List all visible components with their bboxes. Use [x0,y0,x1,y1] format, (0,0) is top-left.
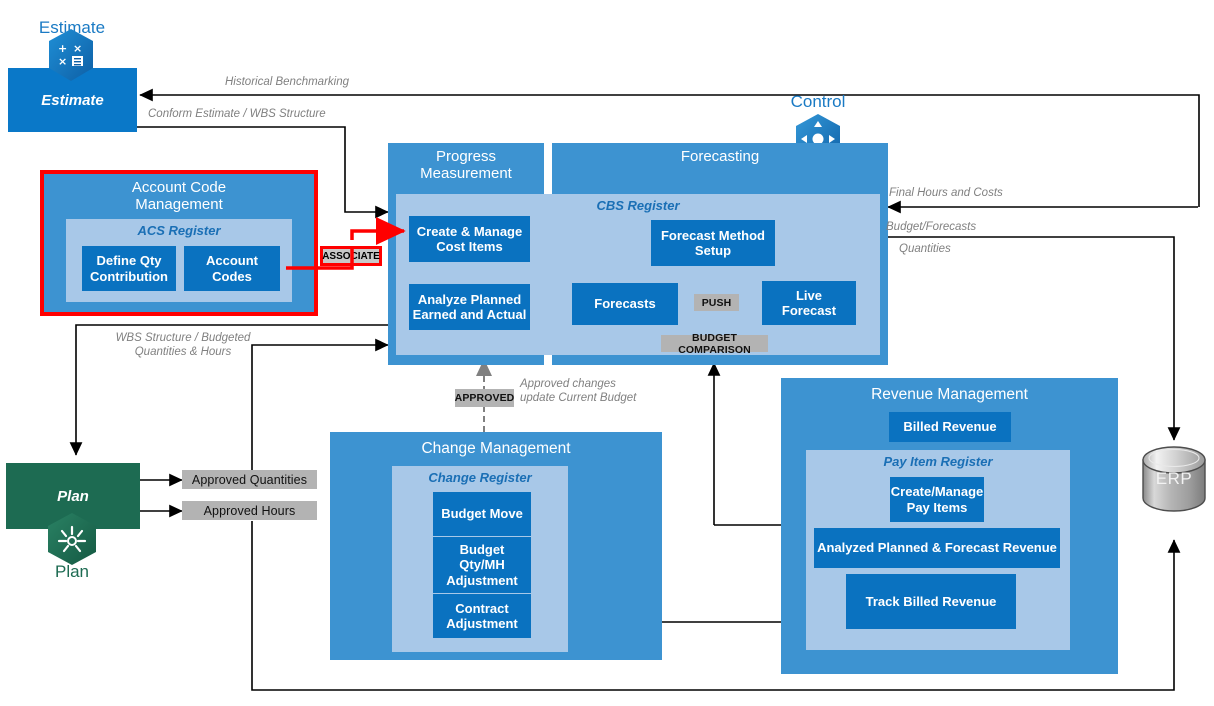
apfr-label: Analyzed Planned & Forecast Revenue [817,540,1057,555]
change-register-title: Change Register [392,470,568,485]
associate-tag[interactable]: ASSOCIATE [320,246,382,266]
bqma-line1: Budget [460,542,505,557]
svg-text:×: × [58,55,67,68]
budget-comparison-label: BUDGET COMPARISON [661,332,768,356]
account-codes-line1: Account [206,253,258,268]
label-quantities: Quantities [899,243,1099,257]
associate-label: ASSOCIATE [322,251,380,262]
wbs-line2: Quantities & Hours [135,346,232,358]
label-wbs-structure: WBS Structure / Budgeted Quantities & Ho… [88,332,278,360]
push-label: PUSH [702,297,732,309]
cmci-line1: Create & Manage [417,224,522,239]
acs-register-title: ACS Register [66,223,292,238]
plan-hex-label: Plan [42,562,102,582]
contract-adjustment-item[interactable]: Contract Adjustment [433,594,531,638]
approved-label: APPROVED [455,392,515,404]
account-codes-item[interactable]: Account Codes [184,246,280,291]
bqma-line2: Qty/MH [459,557,505,572]
approved-changes-line2: update Current Budget [520,392,636,404]
cmpi-line1: Create/Manage [891,484,983,499]
label-conform-estimate: Conform Estimate / WBS Structure [148,108,468,122]
contract-adj-line1: Contract [455,601,508,616]
apea-line2: Earned and Actual [413,307,527,322]
define-qty-line1: Define Qty [96,253,161,268]
approved-hours-label: Approved Hours [204,504,296,518]
define-qty-contribution-item[interactable]: Define Qty Contribution [82,246,176,291]
label-final-hours-costs: Final Hours and Costs [889,187,1089,201]
create-manage-pay-items[interactable]: Create/Manage Pay Items [890,477,984,522]
budget-comparison-tag[interactable]: BUDGET COMPARISON [661,335,768,352]
analyzed-planned-forecast-revenue[interactable]: Analyzed Planned & Forecast Revenue [814,528,1060,568]
cbs-register-title: CBS Register [396,198,880,213]
live-forecast-line1: Live [796,288,822,303]
erp-label: ERP [1143,469,1205,489]
approved-hours-tag[interactable]: Approved Hours [182,501,317,520]
svg-text:×: × [73,42,82,55]
billed-revenue-label: Billed Revenue [903,419,996,434]
apea-line1: Analyze Planned [418,292,521,307]
live-forecast-line2: Forecast [782,303,836,318]
diagram-canvas: Estimate Estimate +× × Control Account C… [0,0,1214,706]
acs-register-panel: ACS Register Define Qty Contribution Acc… [66,219,292,302]
budget-move-item[interactable]: Budget Move [433,492,531,536]
label-historical-benchmarking: Historical Benchmarking [225,76,505,90]
account-code-management-module[interactable]: Account Code Management ACS Register Def… [44,174,314,312]
pay-item-register-title: Pay Item Register [806,454,1070,469]
erp-node[interactable]: ERP [1143,447,1205,511]
push-tag[interactable]: PUSH [694,294,739,311]
plan-box-label: Plan [57,488,89,505]
revenue-management-module[interactable]: Revenue Management Billed Revenue Pay It… [781,378,1118,674]
svg-text:+: + [58,42,67,55]
budget-qty-mh-adjustment-item[interactable]: Budget Qty/MH Adjustment [433,537,531,593]
cmpi-line2: Pay Items [907,500,968,515]
change-management-title: Change Management [330,440,662,457]
live-forecast-item[interactable]: Live Forecast [762,281,856,325]
wbs-line1: WBS Structure / Budgeted [116,332,251,344]
analyze-planned-earned-actual[interactable]: Analyze Planned Earned and Actual [409,284,530,330]
approved-quantities-tag[interactable]: Approved Quantities [182,470,317,489]
bqma-line3: Adjustment [446,573,518,588]
change-register-panel: Change Register Budget Move Budget Qty/M… [392,466,568,652]
tbr-label: Track Billed Revenue [866,594,997,609]
acm-title-line2: Management [135,196,223,213]
pay-item-register-panel: Pay Item Register Create/Manage Pay Item… [806,450,1070,650]
forecasting-title: Forecasting [552,149,888,166]
billed-revenue-item[interactable]: Billed Revenue [889,412,1011,442]
approved-tag[interactable]: APPROVED [455,389,514,407]
create-manage-cost-items[interactable]: Create & Manage Cost Items [409,216,530,262]
forecast-method-setup[interactable]: Forecast Method Setup [651,220,775,266]
progress-measurement-title: Progress Measurement [388,149,544,183]
pm-title-line1: Progress [436,148,496,165]
plan-hex-icon [44,511,100,567]
account-code-management-title: Account Code Management [44,180,314,214]
fms-line1: Forecast Method [661,228,765,243]
estimate-box-label: Estimate [41,92,104,109]
contract-adj-line2: Adjustment [446,616,518,631]
pm-title-line2: Measurement [420,165,512,182]
track-billed-revenue-item[interactable]: Track Billed Revenue [846,574,1016,629]
label-approved-changes: Approved changes update Current Budget [520,378,710,406]
approved-quantities-label: Approved Quantities [192,473,307,487]
approved-changes-line1: Approved changes [520,378,616,390]
account-codes-line2: Codes [212,269,252,284]
label-budget-forecasts: Budget/Forecasts [886,221,1086,235]
estimate-hex-icon: +× × [46,28,96,84]
revenue-management-title: Revenue Management [781,386,1118,403]
budget-move-label: Budget Move [441,506,523,521]
forecasts-label: Forecasts [594,296,655,311]
change-management-module[interactable]: Change Management Change Register Budget… [330,432,662,660]
acm-title-line1: Account Code [132,179,226,196]
fms-line2: Setup [695,243,731,258]
cmci-line2: Cost Items [436,239,502,254]
forecasts-item[interactable]: Forecasts [572,283,678,325]
control-hex-label: Control [768,92,868,112]
define-qty-line2: Contribution [90,269,168,284]
